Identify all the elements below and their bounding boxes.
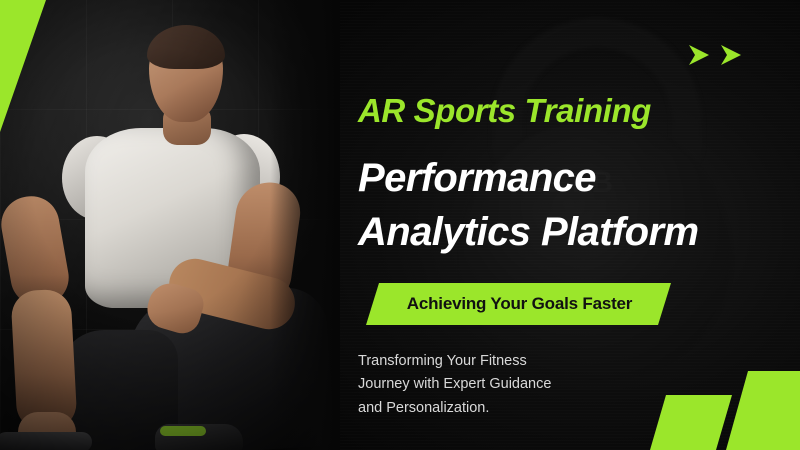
promo-banner: 4.5 LB (0, 0, 800, 450)
headline-line-2: Analytics Platform (358, 206, 698, 260)
body-copy: Transforming Your Fitness Journey with E… (358, 350, 551, 420)
photo-right-fade (270, 0, 340, 450)
body-copy-line-2: Journey with Expert Guidance (358, 373, 551, 396)
content-block: AR Sports Training Performance Analytics… (358, 0, 758, 450)
headline: Performance Analytics Platform (358, 152, 698, 259)
athlete-photo (0, 0, 340, 450)
eyebrow-title: AR Sports Training (358, 92, 651, 130)
body-copy-line-1: Transforming Your Fitness (358, 350, 551, 373)
body-copy-line-3: and Personalization. (358, 397, 551, 420)
tagline-badge-label: Achieving Your Goals Faster (405, 294, 632, 314)
tagline-badge: Achieving Your Goals Faster (366, 283, 671, 325)
headline-line-1: Performance (358, 156, 596, 200)
